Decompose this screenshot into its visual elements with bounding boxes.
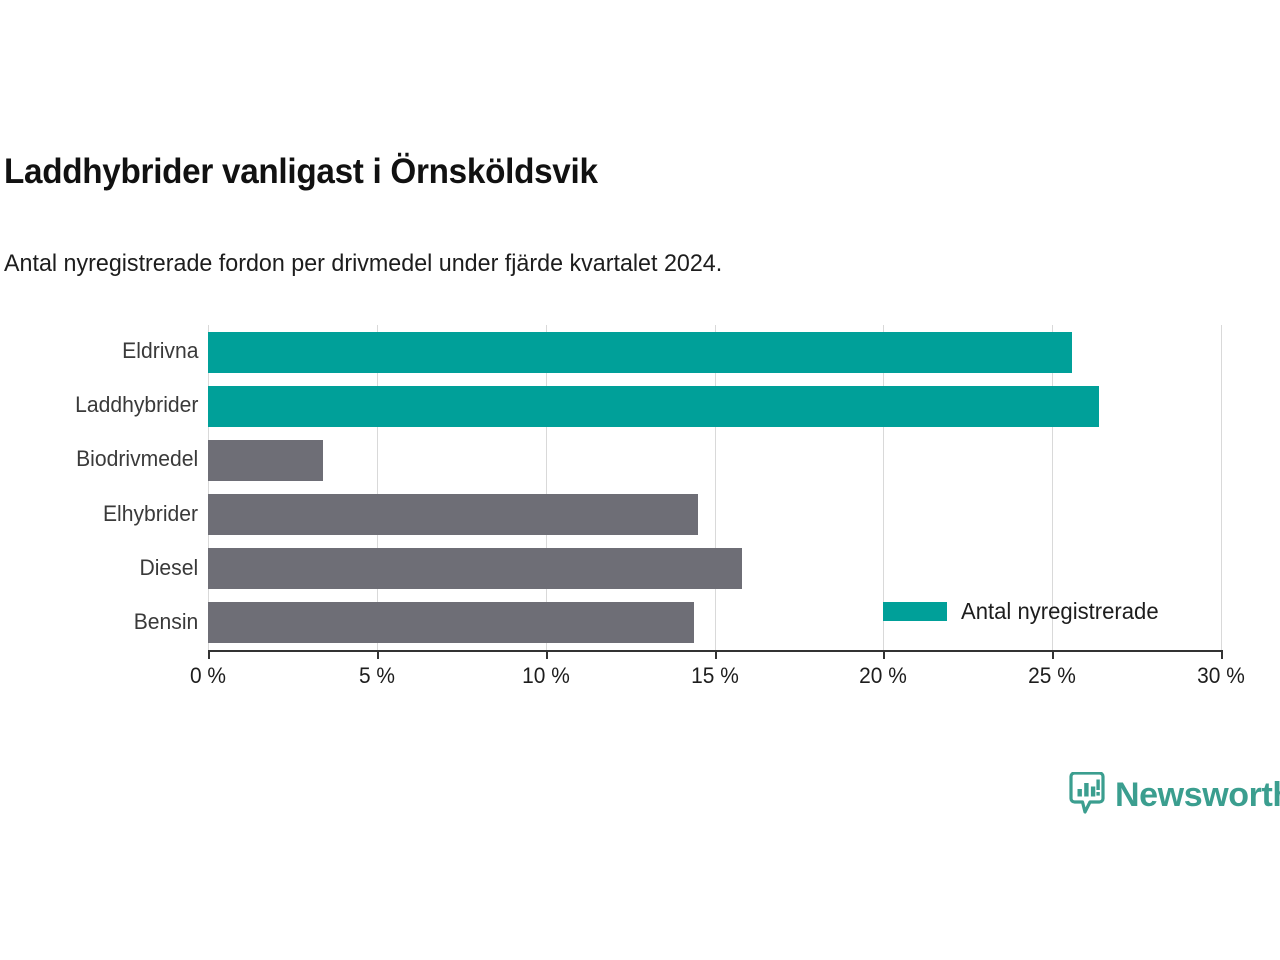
x-axis-tick [377,650,379,659]
gridline [546,325,547,650]
y-axis-category-label: Laddhybrider [75,392,198,418]
x-axis-tick-label: 5 % [359,663,395,689]
x-axis-tick [883,650,885,659]
x-axis-tick [1221,650,1223,659]
newsworthy-wordmark: Newsworthy [1115,776,1280,815]
chart-legend: Antal nyregistrerade [883,598,1167,625]
x-axis-tick-label: 20 % [860,663,908,689]
y-axis-category-label: Bensin [133,609,198,635]
newsworthy-logo: Newsworthy [1068,772,1280,819]
legend-label: Antal nyregistrerade [961,598,1159,625]
chart-container: Laddhybrider vanligast i Örnsköldsvik An… [0,0,1280,960]
gridline [377,325,378,650]
gridline [715,325,716,650]
x-axis-tick-label: 25 % [1028,663,1076,689]
x-axis-tick [208,650,210,659]
y-axis-category-label: Eldrivna [122,338,198,364]
x-axis-tick-label: 30 % [1197,663,1245,689]
x-axis-tick [1052,650,1054,659]
bar[interactable] [208,602,694,643]
x-axis-tick-label: 10 % [522,663,570,689]
bar[interactable] [208,548,742,589]
x-axis-tick-label: 15 % [691,663,739,689]
bar[interactable] [208,494,698,535]
y-axis-category-label: Elhybrider [103,501,198,527]
chart-title: Laddhybrider vanligast i Örnsköldsvik [4,152,598,192]
legend-swatch [883,602,947,621]
gridline [208,325,209,650]
x-axis-tick [715,650,717,659]
bar[interactable] [208,332,1072,373]
x-axis-tick-label: 0 % [190,663,226,689]
gridline [1221,325,1222,650]
bar[interactable] [208,440,323,481]
newsworthy-bars-bubble-icon [1068,772,1106,819]
y-axis-category-label: Diesel [139,555,198,581]
bar[interactable] [208,386,1099,427]
y-axis-category-label: Biodrivmedel [76,446,198,472]
chart-subtitle: Antal nyregistrerade fordon per drivmede… [4,250,722,278]
x-axis-tick [546,650,548,659]
